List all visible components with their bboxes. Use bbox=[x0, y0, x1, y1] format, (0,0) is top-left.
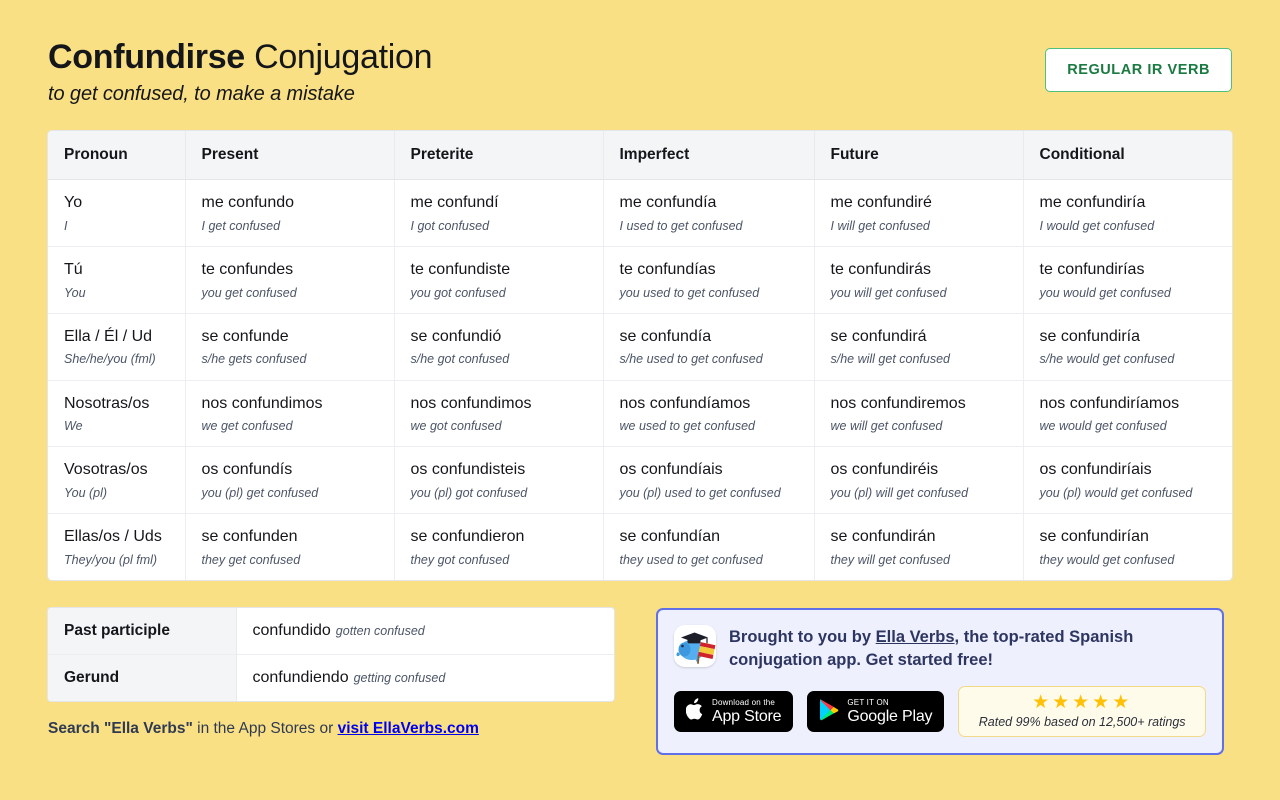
cell-pronoun: Nosotras/osWe bbox=[48, 380, 185, 447]
form-en: you used to get confused bbox=[620, 285, 804, 301]
form-en: you will get confused bbox=[831, 285, 1013, 301]
cell-future: se confundirás/he will get confused bbox=[814, 313, 1023, 380]
past-participle-es: confundido bbox=[253, 622, 331, 639]
column-header-conditional: Conditional bbox=[1023, 131, 1232, 180]
cell-future: te confundirásyou will get confused bbox=[814, 246, 1023, 313]
form-en: you (pl) got confused bbox=[411, 485, 593, 501]
table-row: TúYou te confundesyou get confused te co… bbox=[48, 246, 1232, 313]
app-store-labels: Download on the App Store bbox=[712, 699, 781, 725]
column-header-imperfect: Imperfect bbox=[603, 131, 814, 180]
form-en: you (pl) get confused bbox=[202, 485, 384, 501]
form-es: nos confundiremos bbox=[831, 393, 1013, 415]
conjugation-table-wrapper: Pronoun Present Preterite Imperfect Futu… bbox=[48, 131, 1232, 580]
form-es: te confundes bbox=[202, 259, 384, 281]
cell-future: me confundiréI will get confused bbox=[814, 180, 1023, 247]
bottom-section: Past participle confundidogotten confuse… bbox=[48, 608, 1232, 755]
form-en: you (pl) would get confused bbox=[1040, 485, 1225, 501]
cell-present: se confundes/he gets confused bbox=[185, 313, 394, 380]
google-play-labels: GET IT ON Google Play bbox=[847, 699, 932, 725]
promo-text-before: Brought to you by bbox=[729, 628, 876, 646]
form-es: me confundiré bbox=[831, 192, 1013, 214]
form-es: se confunde bbox=[202, 326, 384, 348]
gerund-gloss: getting confused bbox=[354, 671, 446, 685]
cell-conditional: se confundirías/he would get confused bbox=[1023, 313, 1232, 380]
cell-pronoun: Ella / Él / UdShe/he/you (fml) bbox=[48, 313, 185, 380]
cell-present: nos confundimoswe get confused bbox=[185, 380, 394, 447]
cell-pronoun: YoI bbox=[48, 180, 185, 247]
table-row: Vosotras/osYou (pl) os confundísyou (pl)… bbox=[48, 447, 1232, 514]
form-es: se confundieron bbox=[411, 526, 593, 548]
cell-conditional: se confundiríanthey would get confused bbox=[1023, 514, 1232, 580]
cell-imperfect: nos confundíamoswe used to get confused bbox=[603, 380, 814, 447]
form-es: se confundían bbox=[620, 526, 804, 548]
form-en: s/he gets confused bbox=[202, 351, 384, 367]
cell-pronoun: TúYou bbox=[48, 246, 185, 313]
form-es: se confundiría bbox=[1040, 326, 1225, 348]
form-es: se confundirán bbox=[831, 526, 1013, 548]
pronoun-en: You bbox=[64, 285, 175, 301]
form-es: nos confundimos bbox=[202, 393, 384, 415]
past-participle-label: Past participle bbox=[48, 608, 236, 655]
form-es: os confundiréis bbox=[831, 459, 1013, 481]
form-es: os confundís bbox=[202, 459, 384, 481]
pronoun-es: Vosotras/os bbox=[64, 459, 175, 481]
verb-forms-table: Past participle confundidogotten confuse… bbox=[48, 608, 614, 701]
table-row: Ellas/os / UdsThey/you (pl fml) se confu… bbox=[48, 514, 1232, 580]
form-en: we used to get confused bbox=[620, 418, 804, 434]
app-store-big-label: App Store bbox=[712, 709, 781, 725]
cell-conditional: nos confundiríamoswe would get confused bbox=[1023, 380, 1232, 447]
table-row: Ella / Él / UdShe/he/you (fml) se confun… bbox=[48, 313, 1232, 380]
app-store-button[interactable]: Download on the App Store bbox=[674, 691, 793, 732]
cell-future: se confundiránthey will get confused bbox=[814, 514, 1023, 580]
form-es: te confundiste bbox=[411, 259, 593, 281]
gerund-label: Gerund bbox=[48, 655, 236, 702]
form-en: you (pl) used to get confused bbox=[620, 485, 804, 501]
store-badges-row: Download on the App Store GE bbox=[674, 686, 1206, 737]
ella-verbs-link[interactable]: Ella Verbs bbox=[876, 628, 955, 646]
table-header-row: Pronoun Present Preterite Imperfect Futu… bbox=[48, 131, 1232, 180]
cell-pronoun: Ellas/os / UdsThey/you (pl fml) bbox=[48, 514, 185, 580]
form-en: s/he will get confused bbox=[831, 351, 1013, 367]
ellaverbs-website-link[interactable]: visit EllaVerbs.com bbox=[338, 720, 479, 737]
cell-present: os confundísyou (pl) get confused bbox=[185, 447, 394, 514]
cell-preterite: os confundisteisyou (pl) got confused bbox=[394, 447, 603, 514]
cell-preterite: te confundisteyou got confused bbox=[394, 246, 603, 313]
form-en: they will get confused bbox=[831, 552, 1013, 568]
form-es: nos confundimos bbox=[411, 393, 593, 415]
form-en: you would get confused bbox=[1040, 285, 1225, 301]
past-participle-row: Past participle confundidogotten confuse… bbox=[48, 608, 614, 655]
promo-message: Brought to you by Ella Verbs, the top-ra… bbox=[729, 625, 1206, 672]
form-en: we got confused bbox=[411, 418, 593, 434]
rating-card: ★★★★★ Rated 99% based on 12,500+ ratings bbox=[958, 686, 1206, 737]
page-header: Confundirse Conjugation to get confused,… bbox=[48, 0, 1232, 106]
cell-present: se confundenthey get confused bbox=[185, 514, 394, 580]
conjugation-table: Pronoun Present Preterite Imperfect Futu… bbox=[48, 131, 1232, 580]
google-play-icon bbox=[819, 698, 840, 726]
form-es: se confundió bbox=[411, 326, 593, 348]
conjugation-page: Confundirse Conjugation to get confused,… bbox=[0, 0, 1280, 800]
form-en: you get confused bbox=[202, 285, 384, 301]
search-prompt: Search "Ella Verbs" in the App Stores or… bbox=[48, 720, 614, 738]
form-es: se confunden bbox=[202, 526, 384, 548]
pronoun-es: Ellas/os / Uds bbox=[64, 526, 175, 548]
cell-future: os confundiréisyou (pl) will get confuse… bbox=[814, 447, 1023, 514]
cell-present: te confundesyou get confused bbox=[185, 246, 394, 313]
form-en: s/he got confused bbox=[411, 351, 593, 367]
cell-preterite: se confundieronthey got confused bbox=[394, 514, 603, 580]
gerund-es: confundiendo bbox=[253, 669, 349, 686]
cell-conditional: te confundiríasyou would get confused bbox=[1023, 246, 1232, 313]
column-header-pronoun: Pronoun bbox=[48, 131, 185, 180]
pronoun-en: She/he/you (fml) bbox=[64, 351, 175, 367]
cell-imperfect: te confundíasyou used to get confused bbox=[603, 246, 814, 313]
star-rating-icon: ★★★★★ bbox=[967, 692, 1197, 714]
pronoun-es: Yo bbox=[64, 192, 175, 214]
form-es: nos confundiríamos bbox=[1040, 393, 1225, 415]
form-es: se confundirían bbox=[1040, 526, 1225, 548]
form-es: me confundía bbox=[620, 192, 804, 214]
form-en: you got confused bbox=[411, 285, 593, 301]
title-suffix: Conjugation bbox=[245, 38, 432, 76]
form-en: s/he used to get confused bbox=[620, 351, 804, 367]
rating-text: Rated 99% based on 12,500+ ratings bbox=[967, 715, 1197, 729]
apple-icon bbox=[686, 698, 705, 726]
pronoun-es: Nosotras/os bbox=[64, 393, 175, 415]
form-es: os confundisteis bbox=[411, 459, 593, 481]
search-prompt-bold: Search "Ella Verbs" bbox=[48, 720, 193, 737]
form-en: they got confused bbox=[411, 552, 593, 568]
cell-preterite: me confundíI got confused bbox=[394, 180, 603, 247]
column-header-future: Future bbox=[814, 131, 1023, 180]
form-es: te confundirás bbox=[831, 259, 1013, 281]
form-en: they get confused bbox=[202, 552, 384, 568]
form-es: te confundirías bbox=[1040, 259, 1225, 281]
form-en: they would get confused bbox=[1040, 552, 1225, 568]
google-play-big-label: Google Play bbox=[847, 709, 932, 725]
app-store-small-label: Download on the bbox=[712, 699, 781, 707]
search-prompt-middle: in the App Stores or bbox=[193, 720, 338, 737]
cell-future: nos confundiremoswe will get confused bbox=[814, 380, 1023, 447]
column-header-present: Present bbox=[185, 131, 394, 180]
form-es: me confundí bbox=[411, 192, 593, 214]
cell-conditional: os confundiríaisyou (pl) would get confu… bbox=[1023, 447, 1232, 514]
form-en: I will get confused bbox=[831, 218, 1013, 234]
form-es: os confundíais bbox=[620, 459, 804, 481]
form-en: I would get confused bbox=[1040, 218, 1225, 234]
cell-imperfect: se confundías/he used to get confused bbox=[603, 313, 814, 380]
cell-pronoun: Vosotras/osYou (pl) bbox=[48, 447, 185, 514]
form-en: we get confused bbox=[202, 418, 384, 434]
cell-imperfect: os confundíaisyou (pl) used to get confu… bbox=[603, 447, 814, 514]
table-row: Nosotras/osWe nos confundimoswe get conf… bbox=[48, 380, 1232, 447]
form-es: nos confundíamos bbox=[620, 393, 804, 415]
table-row: YoI me confundoI get confused me confund… bbox=[48, 180, 1232, 247]
pronoun-en: I bbox=[64, 218, 175, 234]
cell-present: me confundoI get confused bbox=[185, 180, 394, 247]
google-play-button[interactable]: GET IT ON Google Play bbox=[807, 691, 944, 732]
verb-type-badge: REGULAR IR VERB bbox=[1045, 48, 1232, 92]
pronoun-es: Tú bbox=[64, 259, 175, 281]
form-en: I get confused bbox=[202, 218, 384, 234]
form-en: we will get confused bbox=[831, 418, 1013, 434]
promo-box: Brought to you by Ella Verbs, the top-ra… bbox=[656, 608, 1224, 755]
promo-header: Brought to you by Ella Verbs, the top-ra… bbox=[674, 625, 1206, 672]
form-es: se confundirá bbox=[831, 326, 1013, 348]
cell-preterite: nos confundimoswe got confused bbox=[394, 380, 603, 447]
gerund-row: Gerund confundiendogetting confused bbox=[48, 655, 614, 702]
google-play-small-label: GET IT ON bbox=[847, 699, 932, 707]
past-participle-gloss: gotten confused bbox=[336, 624, 425, 638]
form-en: you (pl) will get confused bbox=[831, 485, 1013, 501]
form-en: we would get confused bbox=[1040, 418, 1225, 434]
form-en: s/he would get confused bbox=[1040, 351, 1225, 367]
forms-column: Past participle confundidogotten confuse… bbox=[48, 608, 614, 738]
pronoun-en: They/you (pl fml) bbox=[64, 552, 175, 568]
pronoun-en: You (pl) bbox=[64, 485, 175, 501]
past-participle-value: confundidogotten confused bbox=[236, 608, 614, 655]
pronoun-es: Ella / Él / Ud bbox=[64, 326, 175, 348]
form-es: te confundías bbox=[620, 259, 804, 281]
form-es: os confundiríais bbox=[1040, 459, 1225, 481]
cell-imperfect: se confundíanthey used to get confused bbox=[603, 514, 814, 580]
form-es: me confundiría bbox=[1040, 192, 1225, 214]
form-en: I got confused bbox=[411, 218, 593, 234]
ella-verbs-logo-icon bbox=[674, 625, 716, 667]
form-es: se confundía bbox=[620, 326, 804, 348]
form-es: me confundo bbox=[202, 192, 384, 214]
pronoun-en: We bbox=[64, 418, 175, 434]
column-header-preterite: Preterite bbox=[394, 131, 603, 180]
cell-imperfect: me confundíaI used to get confused bbox=[603, 180, 814, 247]
verb-name: Confundirse bbox=[48, 38, 245, 76]
gerund-value: confundiendogetting confused bbox=[236, 655, 614, 702]
form-en: they used to get confused bbox=[620, 552, 804, 568]
cell-conditional: me confundiríaI would get confused bbox=[1023, 180, 1232, 247]
form-en: I used to get confused bbox=[620, 218, 804, 234]
cell-preterite: se confundiós/he got confused bbox=[394, 313, 603, 380]
